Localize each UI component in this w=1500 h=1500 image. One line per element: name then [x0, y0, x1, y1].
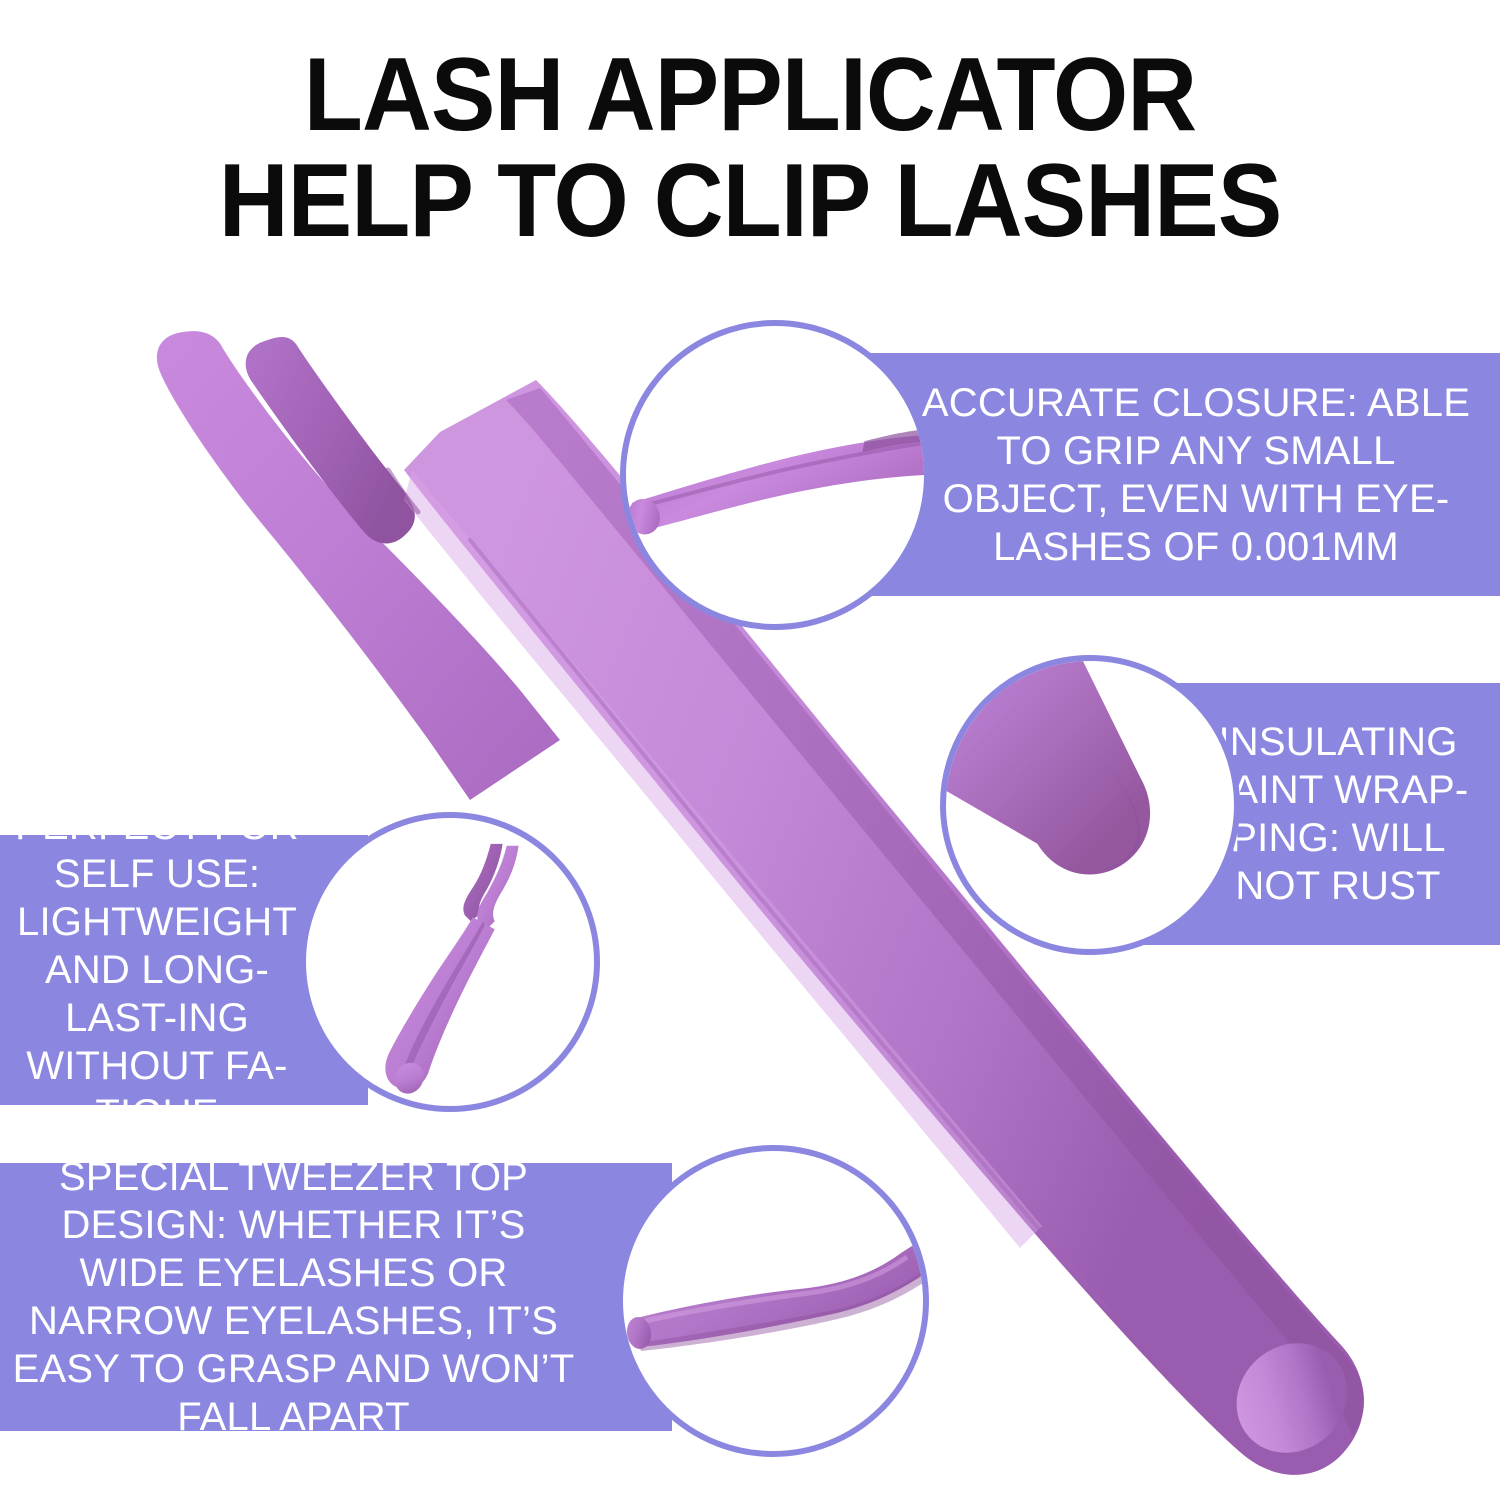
detail-circle-whole-tweezer	[300, 812, 600, 1112]
infographic-canvas: LASH APPLICATOR HELP TO CLIP LASHES ACCU…	[0, 0, 1500, 1500]
callout-bar-special-tweezer-top: SPECIAL TWEEZER TOP DESIGN: WHETHER IT’S…	[0, 1163, 672, 1431]
title-line-1: LASH APPLICATOR	[53, 42, 1448, 148]
callout-text-special-tweezer-top: SPECIAL TWEEZER TOP DESIGN: WHETHER IT’S…	[0, 1153, 672, 1441]
detail-circle-curved-tip	[617, 1145, 929, 1457]
page-title: LASH APPLICATOR HELP TO CLIP LASHES	[0, 42, 1500, 254]
detail-circle-handle-end	[940, 655, 1240, 955]
detail-circle-tweezer-tip	[620, 320, 930, 630]
title-line-2: HELP TO CLIP LASHES	[53, 148, 1448, 254]
